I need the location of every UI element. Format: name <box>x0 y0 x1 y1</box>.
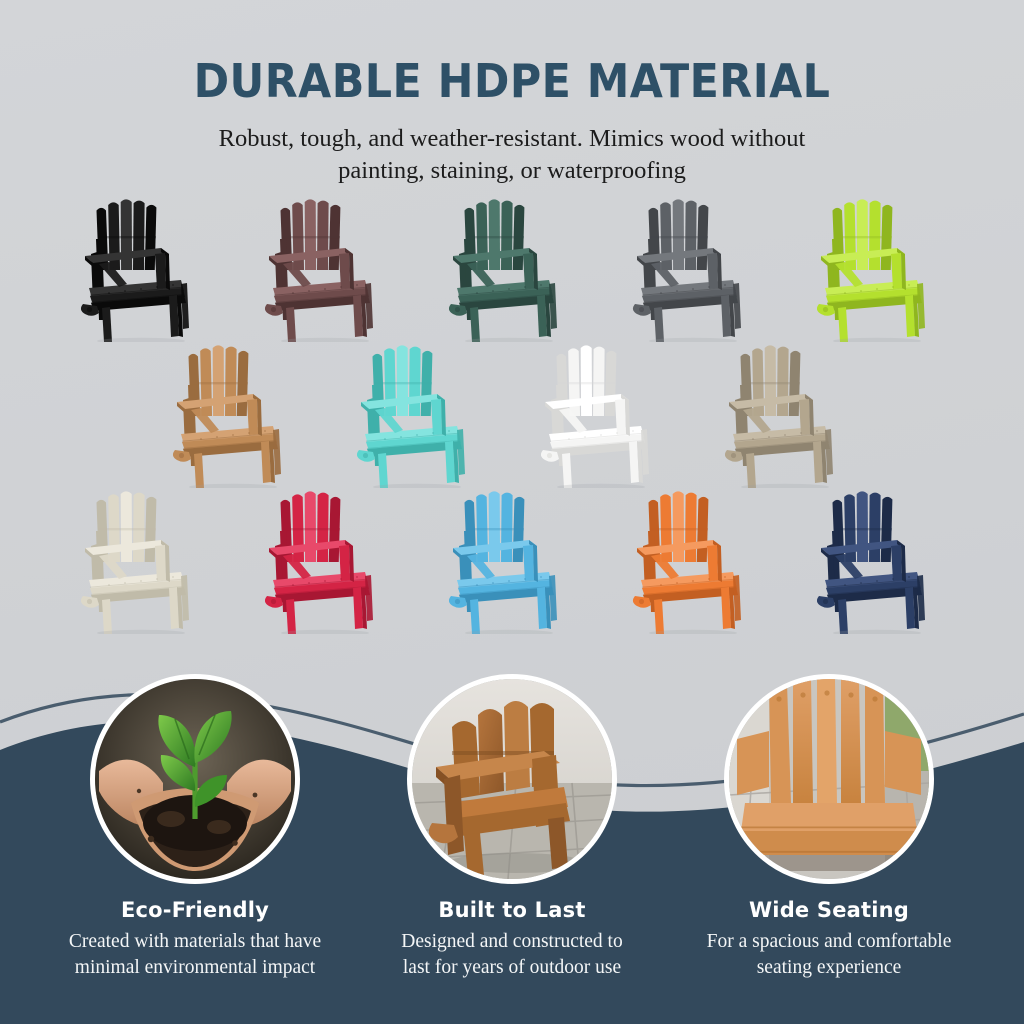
chair-ivory <box>69 484 219 634</box>
chair-orange <box>621 484 771 634</box>
chair-lime-green <box>805 192 955 342</box>
swatch-light-blue[interactable] <box>429 484 595 634</box>
chair-teak <box>161 338 311 488</box>
chair-white <box>529 338 679 488</box>
infographic-page: DURABLE HDPE MATERIAL Robust, tough, and… <box>0 0 1024 1024</box>
swatch-white[interactable] <box>521 338 687 488</box>
page-subtitle: Robust, tough, and weather-resistant. Mi… <box>0 123 1024 188</box>
feature-image-3 <box>724 674 934 884</box>
feature-desc-3: For a spacious and comfortableseating ex… <box>664 929 994 980</box>
chair-black <box>69 192 219 342</box>
swatch-row-2 <box>0 338 1024 488</box>
swatch-lime-green[interactable] <box>797 192 963 342</box>
feature-image-2 <box>407 674 617 884</box>
wide-seat-closeup-photo <box>729 679 929 879</box>
chair-brown <box>253 192 403 342</box>
swatch-red[interactable] <box>245 484 411 634</box>
subtitle-line-1: Robust, tough, and weather-resistant. Mi… <box>0 123 1024 155</box>
swatch-row-3 <box>0 484 1024 634</box>
chair-gray <box>621 192 771 342</box>
swatch-turquoise[interactable] <box>337 338 503 488</box>
seedling-in-hands-photo <box>95 679 295 879</box>
swatch-weathered-wood[interactable] <box>705 338 871 488</box>
feature-desc-2: Designed and constructed tolast for year… <box>347 929 677 980</box>
swatch-gray[interactable] <box>613 192 779 342</box>
swatch-row-1 <box>0 192 1024 342</box>
feature-title-1: Eco-Friendly <box>30 898 360 922</box>
feature-1: Eco-FriendlyCreated with materials that … <box>30 674 360 980</box>
swatch-dark-green[interactable] <box>429 192 595 342</box>
color-swatch-grid <box>0 192 1024 634</box>
feature-list: Eco-FriendlyCreated with materials that … <box>0 634 1024 1024</box>
feature-image-1 <box>90 674 300 884</box>
chair-turquoise <box>345 338 495 488</box>
chair-weathered-wood <box>713 338 863 488</box>
feature-title-3: Wide Seating <box>664 898 994 922</box>
swatch-ivory[interactable] <box>61 484 227 634</box>
swatch-brown[interactable] <box>245 192 411 342</box>
chair-red <box>253 484 403 634</box>
feature-3: Wide SeatingFor a spacious and comfortab… <box>664 674 994 980</box>
page-title: DURABLE HDPE MATERIAL <box>36 54 988 108</box>
chair-dark-green <box>437 192 587 342</box>
swatch-navy-blue[interactable] <box>797 484 963 634</box>
swatch-black[interactable] <box>61 192 227 342</box>
feature-2: Built to LastDesigned and constructed to… <box>347 674 677 980</box>
feature-desc-1: Created with materials that haveminimal … <box>30 929 360 980</box>
swatch-teak[interactable] <box>153 338 319 488</box>
chair-navy-blue <box>805 484 955 634</box>
swatch-orange[interactable] <box>613 484 779 634</box>
teak-chair-on-patio-photo <box>412 679 612 879</box>
chair-light-blue <box>437 484 587 634</box>
feature-title-2: Built to Last <box>347 898 677 922</box>
subtitle-line-2: painting, staining, or waterproofing <box>0 155 1024 187</box>
